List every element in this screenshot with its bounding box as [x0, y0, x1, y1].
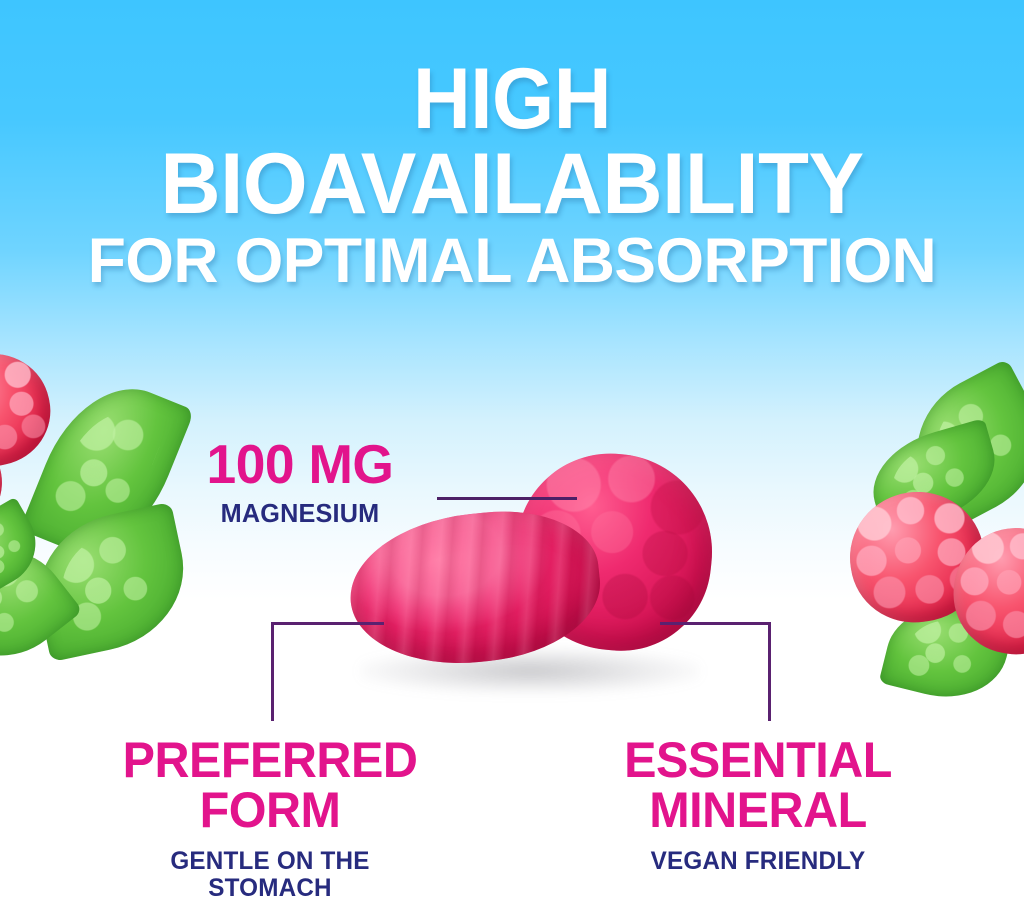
callout-preferred-title: PREFERRED FORM — [81, 735, 459, 835]
bracket-line-preferred — [271, 622, 384, 721]
leader-line-dosage — [437, 497, 577, 500]
callout-essential-title: ESSENTIAL MINERAL — [569, 735, 947, 835]
headline-block: HIGH BIOAVAILABILITY FOR OPTIMAL ABSORPT… — [0, 58, 1024, 292]
callout-preferred-form: PREFERRED FORM GENTLE ON THE STOMACH — [75, 735, 465, 902]
callout-essential-subtitle: VEGAN FRIENDLY — [569, 848, 947, 875]
headline-line-2: BIOAVAILABILITY — [15, 143, 1008, 226]
callout-preferred-subtitle-line-1: GENTLE ON THE — [81, 848, 459, 875]
callout-preferred-title-line-2: FORM — [81, 785, 459, 835]
callout-dosage-title: 100 MG — [155, 437, 446, 492]
callout-preferred-subtitle-line-2: STOMACH — [81, 875, 459, 902]
callout-dosage-subtitle: MAGNESIUM — [155, 499, 446, 527]
headline-line-3: FOR OPTIMAL ABSORPTION — [5, 231, 1019, 291]
product-marketing-poster: HIGH BIOAVAILABILITY FOR OPTIMAL ABSORPT… — [0, 0, 1024, 915]
callout-essential-title-line-2: MINERAL — [569, 785, 947, 835]
callout-essential-mineral: ESSENTIAL MINERAL VEGAN FRIENDLY — [563, 735, 953, 875]
callout-essential-title-line-1: ESSENTIAL — [569, 735, 947, 785]
headline-line-1: HIGH — [36, 58, 988, 141]
callout-dosage: 100 MG MAGNESIUM — [150, 437, 450, 527]
bracket-line-essential — [660, 622, 771, 721]
callout-preferred-title-line-1: PREFERRED — [81, 735, 459, 785]
callout-preferred-subtitle: GENTLE ON THE STOMACH — [81, 848, 459, 902]
